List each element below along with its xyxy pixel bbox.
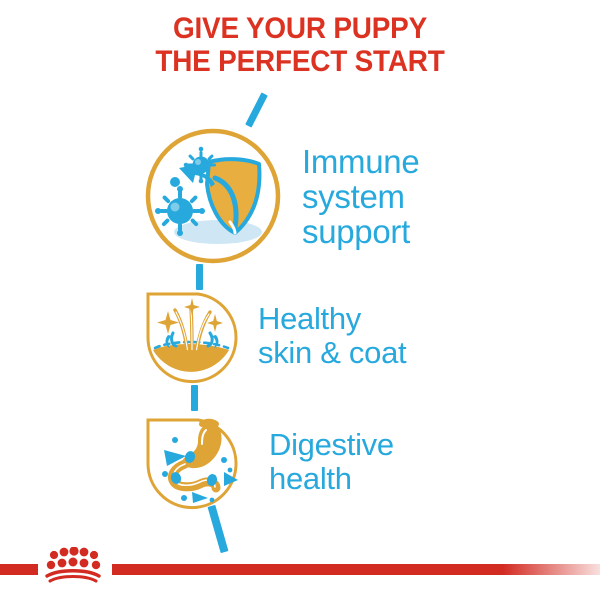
benefit-row-immune: Immune system support <box>143 126 419 266</box>
benefit-label-skin-coat: Healthy skin & coat <box>258 302 406 370</box>
connector-dash-bottom <box>208 505 229 553</box>
immune-shield-icon <box>143 126 283 266</box>
footer-bar-right <box>112 564 600 575</box>
benefit-label-skin-coat-line-2: skin & coat <box>258 335 406 370</box>
footer-bar-left <box>0 564 38 575</box>
stomach-digestive-icon <box>140 412 243 512</box>
headline-line-1: GIVE YOUR PUPPY <box>21 12 579 45</box>
connector-dash-top <box>245 92 268 127</box>
benefit-label-immune-line-2: system <box>302 178 405 215</box>
royal-canin-crown-logo <box>41 547 105 583</box>
benefit-label-digestive-line-1: Digestive <box>269 427 394 462</box>
benefit-label-immune: Immune system support <box>302 144 419 249</box>
benefit-label-skin-coat-line-1: Healthy <box>258 301 361 336</box>
benefit-row-skin-coat: Healthy skin & coat <box>140 286 406 386</box>
hair-follicle-icon <box>140 286 243 386</box>
headline-line-2: THE PERFECT START <box>21 45 579 78</box>
benefit-row-digestive: Digestive health <box>140 412 394 512</box>
royal-canin-puppy-benefits-panel: { "headline": { "line1": "GIVE YOUR PUPP… <box>0 0 600 600</box>
connector-dash-2 <box>191 385 198 411</box>
benefit-label-immune-line-1: Immune <box>302 143 419 180</box>
page-title: GIVE YOUR PUPPY THE PERFECT START <box>21 12 579 78</box>
benefit-label-immune-line-3: support <box>302 213 410 250</box>
benefit-label-digestive-line-2: health <box>269 461 352 496</box>
benefit-label-digestive: Digestive health <box>269 428 394 496</box>
